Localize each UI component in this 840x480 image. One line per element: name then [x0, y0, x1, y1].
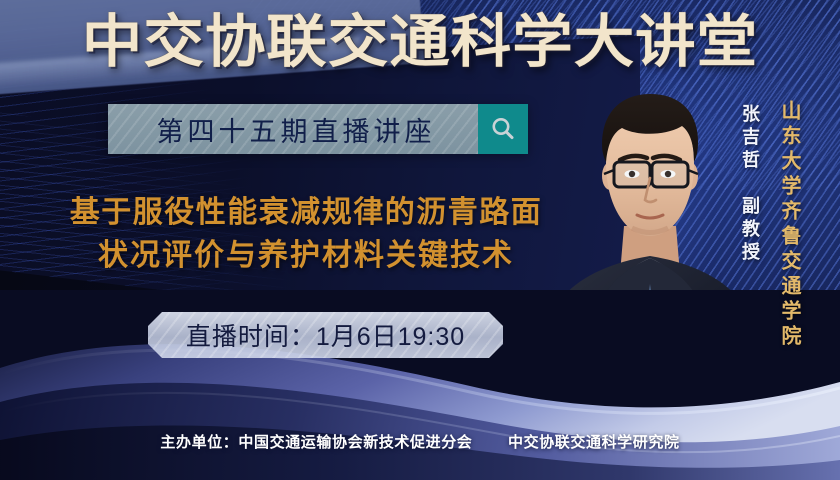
- episode-label: 第四十五期直播讲座: [108, 104, 478, 154]
- speaker-name-title: 张吉哲 副教授: [737, 104, 763, 265]
- webinar-poster: 中交协联交通科学大讲堂 第四十五期直播讲座 基于服役性能衰减规律的沥青路面 状况…: [0, 0, 840, 480]
- speaker-affiliation: 山东大学齐鲁交通学院: [775, 100, 804, 350]
- page-title: 中交协联交通科学大讲堂: [0, 14, 840, 71]
- organizer-primary: 主办单位：中国交通运输协会新技术促进分会: [160, 434, 472, 451]
- search-icon[interactable]: [478, 104, 528, 154]
- live-time-badge: 直播时间：1月6日19:30: [148, 312, 503, 358]
- episode-bar[interactable]: 第四十五期直播讲座: [108, 104, 528, 154]
- footer-organizers: 主办单位：中国交通运输协会新技术促进分会 中交协联交通科学研究院: [0, 431, 840, 452]
- lecture-title-line-2: 状况评价与养护材料关键技术: [26, 235, 586, 278]
- lecture-title: 基于服役性能衰减规律的沥青路面 状况评价与养护材料关键技术: [26, 192, 586, 277]
- lecture-title-line-1: 基于服役性能衰减规律的沥青路面: [26, 192, 586, 235]
- organizer-secondary: 中交协联交通科学研究院: [508, 434, 680, 451]
